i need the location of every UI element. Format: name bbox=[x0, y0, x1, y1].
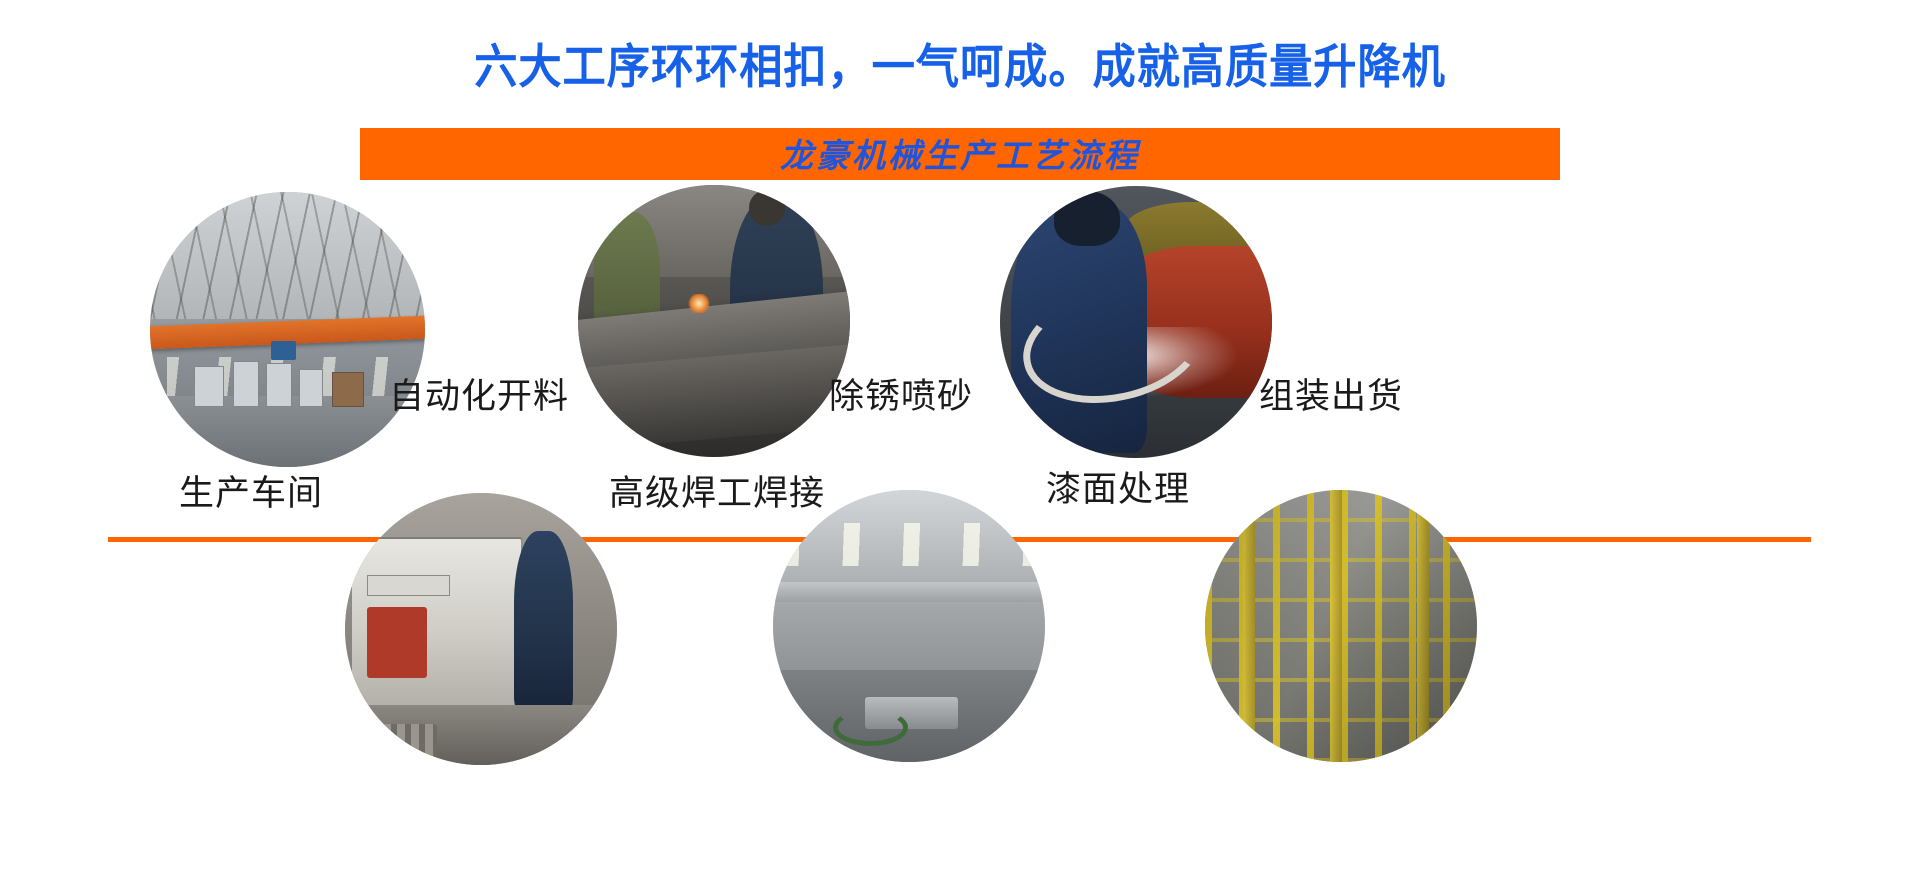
step-label-assembly: 组装出货 bbox=[1259, 377, 1403, 417]
step-image-welding bbox=[578, 185, 850, 457]
paint-booth-photo bbox=[773, 490, 1045, 762]
welding-photo bbox=[578, 185, 850, 457]
step-image-cutting bbox=[345, 493, 617, 765]
step-label-workshop: 生产车间 bbox=[179, 474, 323, 514]
subtitle-banner-text: 龙豪机械生产工艺流程 bbox=[780, 129, 1140, 177]
step-image-workshop bbox=[150, 192, 425, 467]
step-label-painting: 漆面处理 bbox=[1046, 470, 1190, 510]
factory-workshop-photo bbox=[150, 192, 425, 467]
step-image-assembly bbox=[1205, 490, 1477, 762]
step-image-painting bbox=[773, 490, 1045, 762]
step-label-welding: 高级焊工焊接 bbox=[609, 474, 825, 514]
subtitle-banner: 龙豪机械生产工艺流程 bbox=[360, 128, 1560, 180]
step-label-cutting: 自动化开料 bbox=[389, 377, 569, 417]
assembly-shipping-photo bbox=[1205, 490, 1477, 762]
page-title: 六大工序环环相扣，一气呵成。成就高质量升降机 bbox=[77, 38, 1843, 96]
step-image-sandblasting bbox=[1000, 186, 1272, 458]
sandblasting-photo bbox=[1000, 186, 1272, 458]
automated-cutting-photo bbox=[345, 493, 617, 765]
step-label-sandblasting: 除锈喷砂 bbox=[829, 377, 973, 417]
process-flow-infographic: 六大工序环环相扣，一气呵成。成就高质量升降机 龙豪机械生产工艺流程 bbox=[0, 0, 1920, 884]
